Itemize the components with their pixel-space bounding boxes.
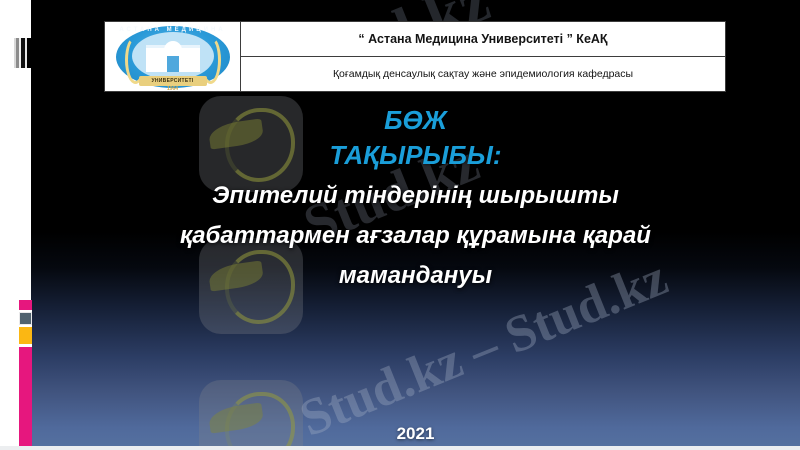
university-emblem-icon: АСТАНА МЕДИЦИНА УНИВЕРСИТЕТІ 1964 [112,25,234,89]
title-line-1: Эпителий тіндерінің шырышты [31,179,800,213]
university-logo-cell: АСТАНА МЕДИЦИНА УНИВЕРСИТЕТІ 1964 [105,22,241,91]
header-table: АСТАНА МЕДИЦИНА УНИВЕРСИТЕТІ 1964 “ Аста… [104,21,726,92]
emblem-founded-year: 1964 [112,86,234,92]
title-line-2: қабаттармен ағзалар құрамына қарай [31,219,800,253]
header-text-cells: “ Астана Медицина Университеті ” КеАҚ Қо… [241,22,725,91]
kicker-line-1: БӨЖ [31,103,800,138]
department-name: Қоғамдық денсаулық сақтау және эпидемиол… [241,57,725,91]
barcode-stripes-decoration [14,38,34,68]
presentation-slide: Stud.kz Stud.kz Stud.kz – Stud.kz АСТАНА… [0,0,800,450]
bottom-edge-strip [0,446,800,450]
institution-name: “ Астана Медицина Университеті ” КеАҚ [241,22,725,57]
title-block: БӨЖ ТАҚЫРЫБЫ: Эпителий тіндерінің шырышт… [31,103,800,293]
emblem-ribbon-text: УНИВЕРСИТЕТІ [139,76,207,86]
left-gutter [0,0,31,446]
slide-year: 2021 [31,424,800,444]
title-line-3: мамандануы [31,259,800,293]
kicker-line-2: ТАҚЫРЫБЫ: [31,138,800,173]
